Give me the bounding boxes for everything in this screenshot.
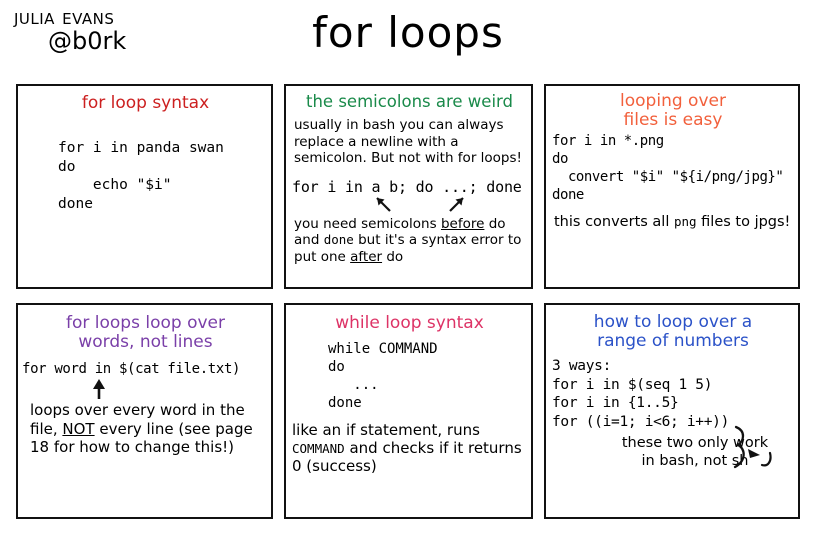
arrow-left-icon (294, 195, 533, 215)
semicolon-arrow-annotations (294, 197, 525, 211)
semicolons-note-part-1: you need semicolons (294, 216, 441, 232)
panel-title-for-loop-syntax: for loop syntax (26, 94, 265, 113)
panel-title-loops-over-words: for loops loop over words, not lines (26, 314, 265, 352)
code-for-loop-syntax: for i in panda swan do echo "$i" done (58, 139, 265, 213)
while-note-command: COMMAND (292, 441, 345, 456)
panel-title-semicolons-are-weird: the semicolons are weird (294, 93, 525, 111)
files-note-part-2: files to jpgs! (697, 214, 791, 230)
panel-title-range-of-numbers: how to loop over a range of numbers (554, 313, 792, 351)
while-note-part-1: like an if statement, runs (292, 421, 480, 439)
panel-title-looping-over-files: looping over files is easy (554, 92, 792, 130)
while-note-text: like an if statement, runs COMMAND and c… (292, 421, 525, 476)
semicolons-note-done: done (324, 232, 354, 247)
panel-grid: for loop syntax for i in panda swan do e… (16, 84, 800, 520)
range-brace-annotation (720, 425, 790, 491)
files-note-part-1: this converts all (554, 214, 674, 230)
words-arrow-annotation (26, 379, 265, 399)
semicolons-note-after: after (350, 249, 382, 265)
panel-range-of-numbers: how to loop over a range of numbers 3 wa… (544, 303, 800, 519)
words-note-not: NOT (62, 420, 94, 438)
code-convert-png: for i in *.png do convert "$i" "${i/png/… (552, 133, 792, 205)
code-three-ways: 3 ways: for i in $(seq 1 5) for i in {1.… (552, 357, 792, 431)
words-note-text: loops over every word in the file, NOT e… (30, 401, 265, 457)
panel-title-while-loop-syntax: while loop syntax (294, 314, 525, 333)
panel-looping-over-files: looping over files is easy for i in *.pn… (544, 84, 800, 289)
semicolons-note-text: you need semicolons before do and done b… (294, 216, 525, 265)
panel-loops-over-words: for loops loop over words, not lines for… (16, 303, 273, 519)
panel-semicolons-are-weird: the semicolons are weird usually in bash… (284, 84, 533, 289)
panel-while-loop-syntax: while loop syntax while COMMAND do ... d… (284, 303, 533, 519)
arrow-right-icon (294, 195, 533, 215)
code-semicolon-oneliner: for i in a b; do ...; done (292, 178, 525, 197)
files-note-text: this converts all png files to jpgs! (554, 214, 792, 231)
semicolons-intro-text: usually in bash you can always replace a… (294, 117, 525, 166)
code-while-loop: while COMMAND do ... done (328, 341, 525, 413)
code-for-word-in-cat: for word in $(cat file.txt) (22, 361, 265, 379)
files-note-png: png (674, 214, 697, 229)
semicolons-note-before: before (441, 216, 484, 232)
panel-for-loop-syntax: for loop syntax for i in panda swan do e… (16, 84, 273, 289)
semicolons-note-part-4: do (382, 249, 403, 265)
arrow-up-icon (26, 377, 266, 401)
page-title: for loops (0, 8, 816, 57)
curly-brace-icon (720, 425, 790, 487)
